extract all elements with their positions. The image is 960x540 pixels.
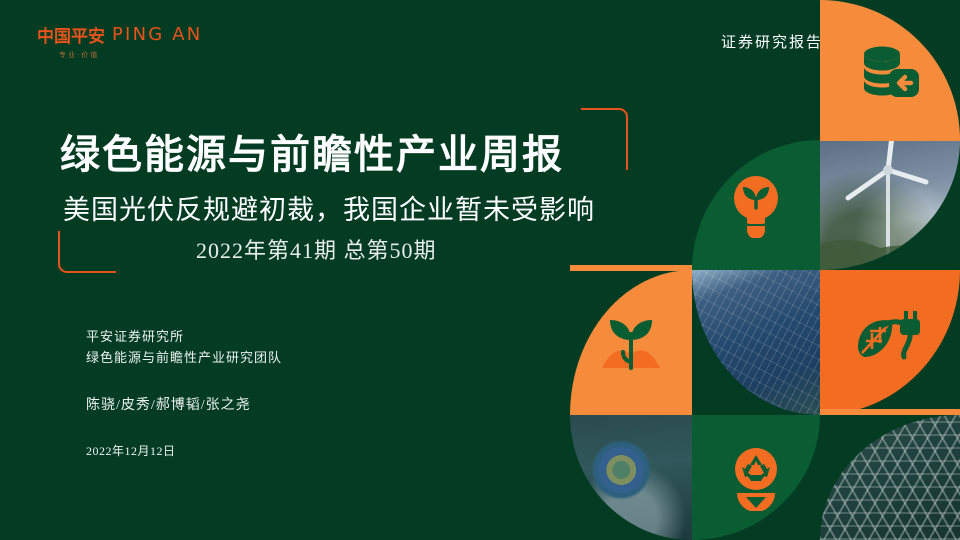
orange-divider-strip-right xyxy=(820,409,960,415)
institute-name: 平安证券研究所 xyxy=(86,326,282,347)
tile-graphene-photo xyxy=(820,415,960,540)
logo-chinese-text: 中国平安 xyxy=(37,22,105,47)
author-names: 陈骁/皮秀/郝博韬/张之尧 xyxy=(86,394,282,414)
coin-stack-icon xyxy=(820,0,960,140)
bracket-bottom-left-decoration xyxy=(58,231,116,273)
logo-tagline: 专业·价值 xyxy=(59,50,202,60)
tile-sprout xyxy=(570,270,692,415)
recycle-pin-icon xyxy=(692,415,820,540)
tile-coin-stack xyxy=(820,0,960,140)
pingan-logo: 中国平安 PING AN 专业·价值 xyxy=(37,22,202,60)
orange-divider-strip-top xyxy=(820,135,960,141)
issue-number: 2022年第41期 总第50期 xyxy=(196,233,437,265)
orange-divider-strip-left xyxy=(570,265,692,271)
page-subtitle: 美国光伏反规避初裁，我国企业暂未受影响 xyxy=(63,188,595,227)
leaf-plug-icon xyxy=(820,270,960,415)
tile-leaf-plug xyxy=(820,270,960,415)
tile-wind-turbine-photo xyxy=(820,140,960,270)
tile-recycle-pin xyxy=(692,415,820,540)
publish-date: 2022年12月12日 xyxy=(86,442,282,459)
team-name: 绿色能源与前瞻性产业研究团队 xyxy=(86,347,282,368)
logo-english-text: PING AN xyxy=(112,24,202,45)
cover-graphic-grid xyxy=(570,0,960,540)
tile-lightbulb-leaf xyxy=(692,140,820,270)
author-meta-block: 平安证券研究所 绿色能源与前瞻性产业研究团队 陈骁/皮秀/郝博韬/张之尧 202… xyxy=(86,326,282,459)
page-title: 绿色能源与前瞻性产业周报 xyxy=(60,122,564,180)
tile-earth-photo xyxy=(570,415,692,540)
report-cover-slide: 中国平安 PING AN 专业·价值 证券研究报告 绿色能源与前瞻性产业周报 美… xyxy=(0,0,960,540)
lightbulb-leaf-icon xyxy=(692,140,820,270)
sprout-icon xyxy=(570,270,692,415)
logo-wordmark: 中国平安 PING AN xyxy=(37,22,202,47)
tile-solar-panel-photo xyxy=(692,270,820,415)
